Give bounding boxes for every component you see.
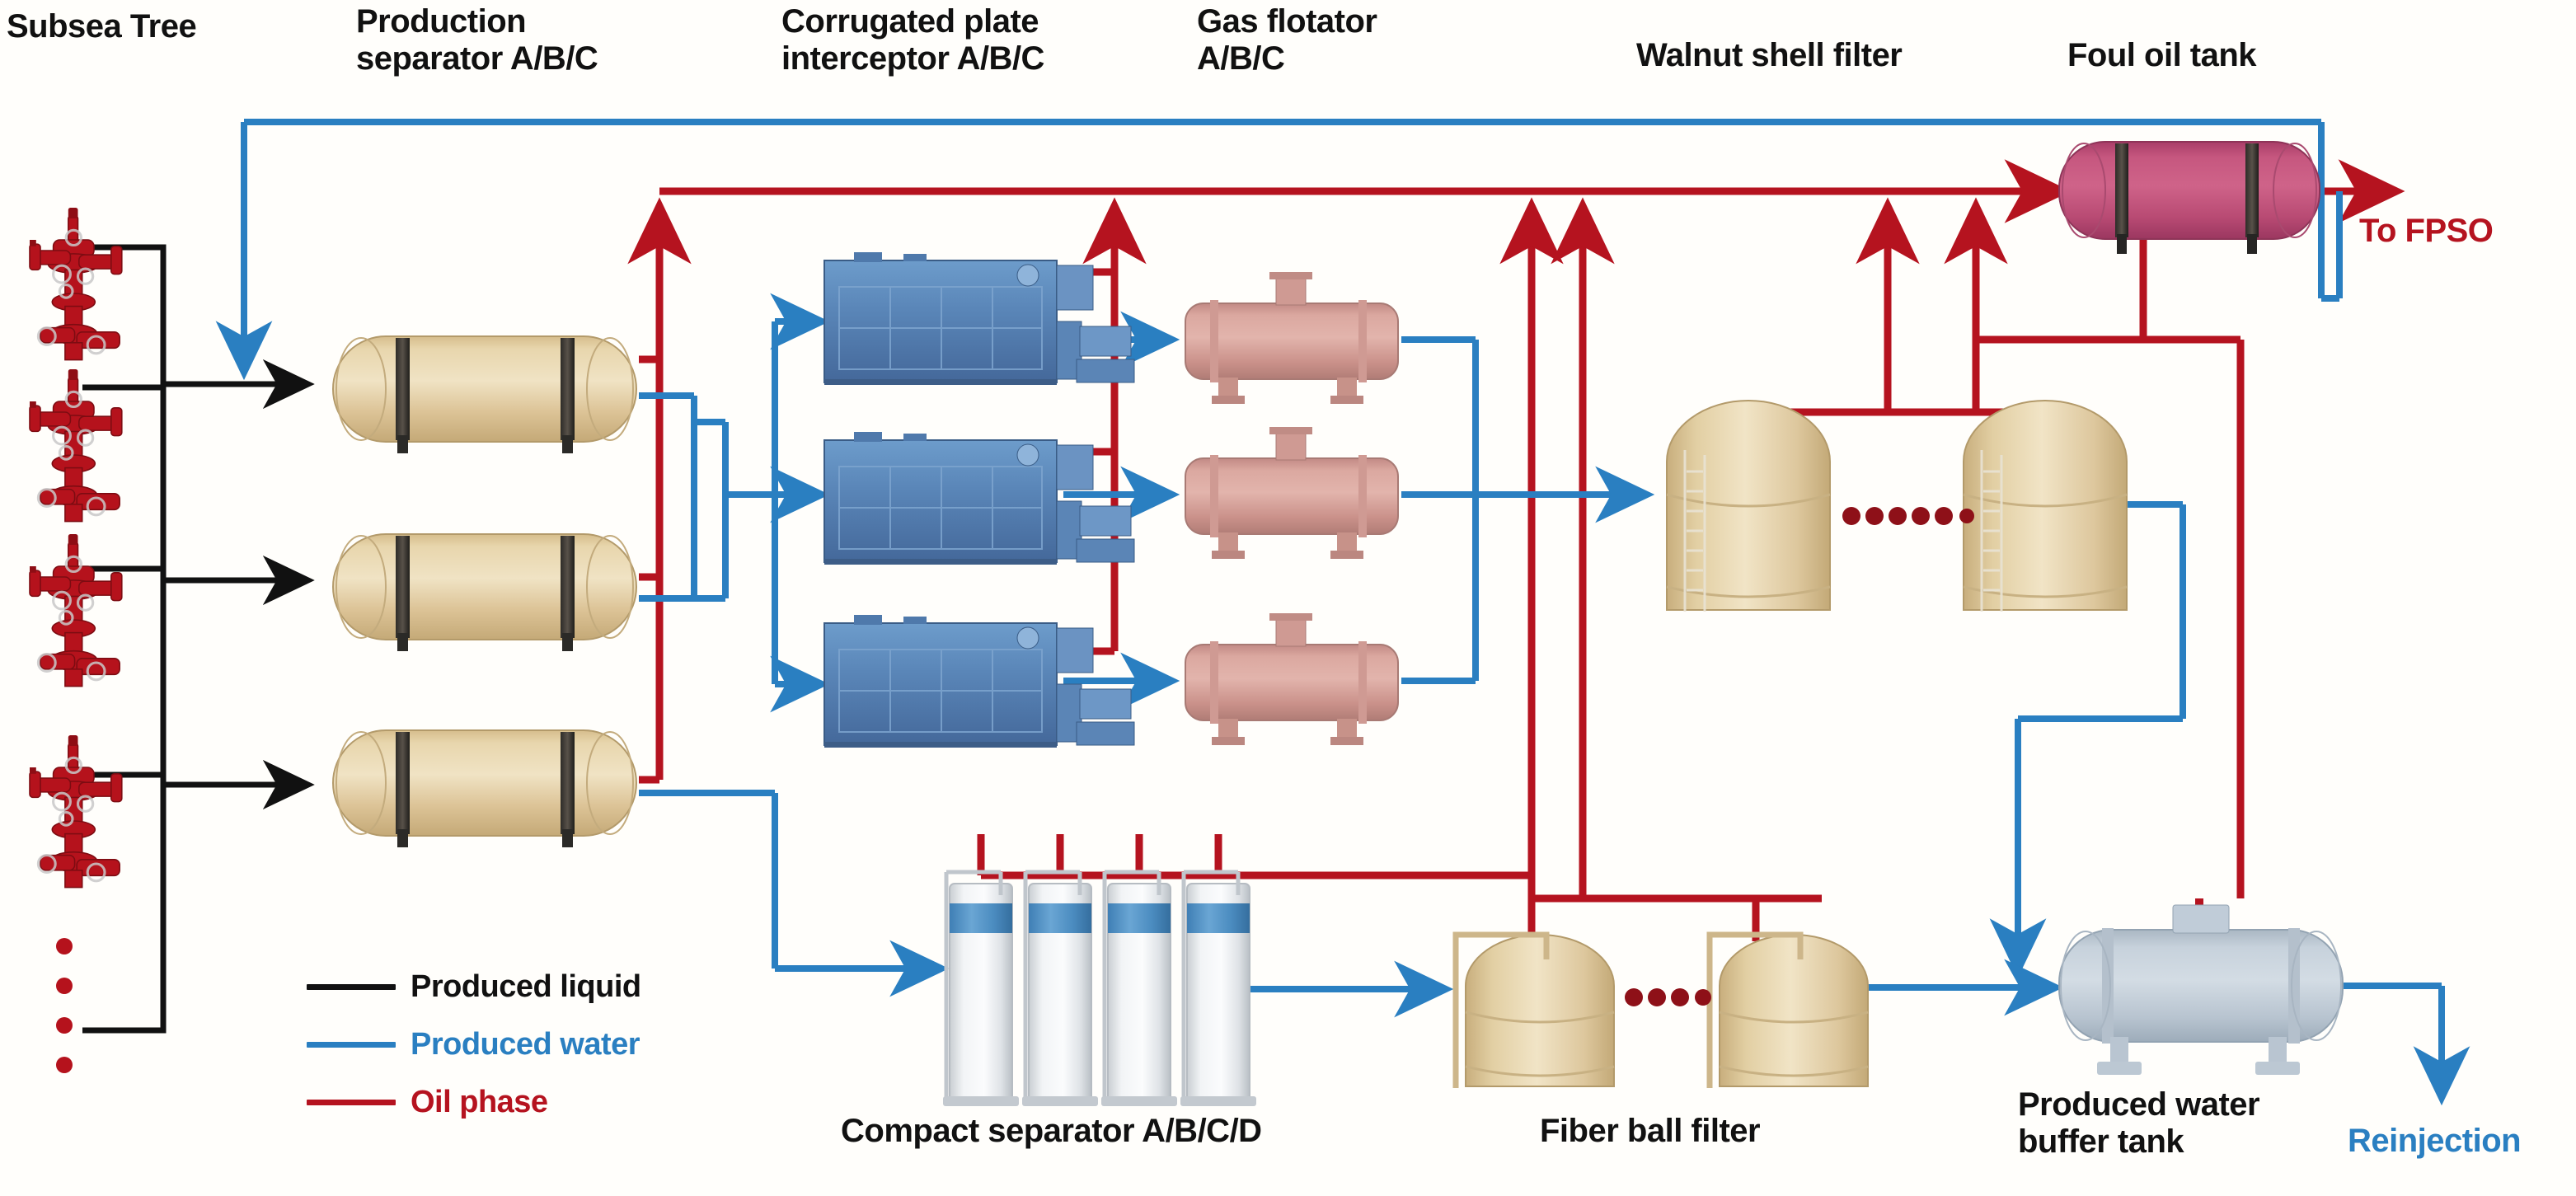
fiber-filter-ellipsis — [1625, 988, 1711, 1006]
header-gas-flotator: Gas flotatorA/B/C — [1197, 3, 1377, 77]
legend-item-produced-water: Produced water — [307, 1027, 640, 1062]
production-separator-a — [333, 336, 636, 453]
walnut-shell-filter-2 — [1964, 401, 2127, 612]
compact-separator-a — [943, 872, 1019, 1106]
fiber-ball-filter-1 — [1456, 935, 1614, 1088]
foul-oil-tank — [2059, 142, 2320, 254]
walnut-shell-filter-group — [1667, 401, 2127, 612]
fiber-ball-filter-2 — [1710, 935, 1868, 1088]
legend-swatch-oil-phase — [307, 1100, 396, 1105]
gas-flotator-group — [1185, 272, 1398, 745]
flow-label-to-fpso: To FPSO — [2359, 213, 2493, 250]
produced-water-buffer-tank — [2059, 905, 2343, 1075]
header-foul-oil-tank: Foul oil tank — [2067, 37, 2256, 74]
subsea-tree-ellipsis — [56, 938, 73, 1073]
header-corrugated-plate-interceptor: Corrugated plateinterceptor A/B/C — [781, 3, 1044, 77]
legend-label-oil-phase: Oil phase — [411, 1085, 548, 1120]
compact-separator-b — [1022, 872, 1098, 1106]
legend-item-produced-liquid: Produced liquid — [307, 969, 641, 1005]
subsea-tree-4 — [30, 735, 122, 888]
cpi-b — [824, 432, 1134, 565]
walnut-shell-filter-1 — [1667, 401, 1830, 612]
compact-separator-group — [943, 872, 1256, 1106]
process-flow-diagram: Subsea Tree Productionseparator A/B/C Co… — [0, 0, 2576, 1196]
subsea-tree-2 — [30, 369, 122, 522]
header-production-separator: Productionseparator A/B/C — [356, 3, 598, 77]
footer-produced-water-buffer-tank: Produced waterbuffer tank — [2018, 1086, 2259, 1161]
production-separator-c — [333, 730, 636, 847]
gas-flotator-b — [1185, 427, 1398, 559]
well-manifold-header — [82, 247, 163, 1030]
cpi-a — [824, 252, 1134, 385]
compact-separator-d — [1180, 872, 1256, 1106]
header-walnut-shell-filter: Walnut shell filter — [1636, 37, 1902, 74]
subsea-tree-group — [30, 208, 122, 1073]
footer-fiber-ball-filter: Fiber ball filter — [1540, 1113, 1760, 1150]
walnut-filter-ellipsis — [1842, 507, 1974, 525]
footer-compact-separator: Compact separator A/B/C/D — [841, 1113, 1262, 1150]
fiber-ball-filter-group — [1456, 935, 1868, 1088]
production-separator-b — [333, 534, 636, 651]
stream-produced-liquid — [82, 247, 307, 1030]
subsea-tree-1 — [30, 208, 122, 360]
subsea-tree-3 — [30, 534, 122, 687]
diagram-canvas — [0, 0, 2576, 1196]
legend-item-oil-phase: Oil phase — [307, 1085, 548, 1120]
legend-label-produced-liquid: Produced liquid — [411, 969, 641, 1005]
flow-label-reinjection: Reinjection — [2348, 1123, 2521, 1160]
corrugated-plate-interceptor-group — [824, 252, 1134, 748]
header-subsea-tree: Subsea Tree — [7, 8, 196, 45]
legend-swatch-produced-water — [307, 1042, 396, 1048]
gas-flotator-c — [1185, 613, 1398, 745]
production-separator-group — [333, 336, 636, 847]
legend-swatch-produced-liquid — [307, 984, 396, 990]
compact-separator-c — [1101, 872, 1177, 1106]
legend-label-produced-water: Produced water — [411, 1027, 640, 1062]
gas-flotator-a — [1185, 272, 1398, 404]
